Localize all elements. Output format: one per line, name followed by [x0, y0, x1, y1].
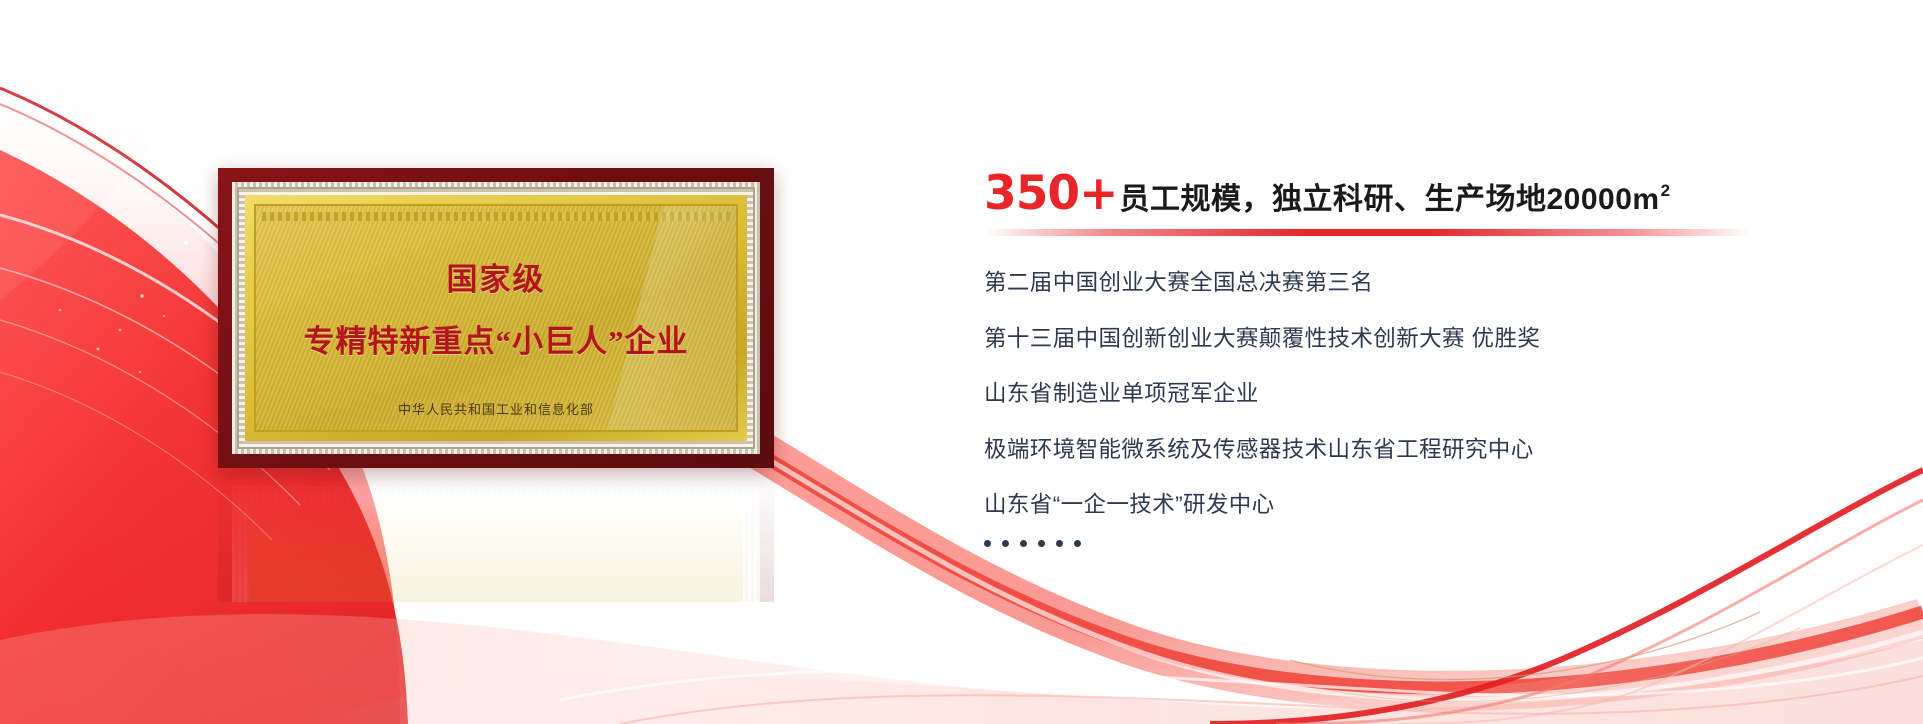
plaque-date: 2024年12月 — [256, 427, 736, 432]
list-item: 极端环境智能微系统及传感器技术山东省工程研究中心 — [984, 439, 1864, 462]
plaque-title-line-2: 专精特新重点“小巨人”企业 — [256, 316, 736, 361]
ellipsis-indicator — [984, 540, 1864, 547]
headline-divider — [984, 229, 1752, 236]
plaque-issuer: 中华人民共和国工业和信息化部 — [256, 399, 736, 418]
headline: 350+ 员工规模，独立科研、生产场地20000m 2 — [984, 170, 1864, 217]
content-column: 350+ 员工规模，独立科研、生产场地20000m 2 第二届中国创业大赛全国总… — [984, 170, 1864, 547]
list-item: 第十三届中国创新创业大赛颠覆性技术创新大赛 优胜奖 — [984, 328, 1864, 351]
ellipsis-dot — [1074, 540, 1081, 547]
ellipsis-dot — [1002, 540, 1009, 547]
list-item: 山东省“一企一技术”研发中心 — [984, 494, 1864, 517]
headline-number: 350+ — [984, 170, 1118, 217]
ellipsis-dot — [1056, 540, 1063, 547]
plaque-gold-plate: 国家级 专精特新重点“小巨人”企业 中华人民共和国工业和信息化部 2024年12… — [254, 204, 738, 432]
list-item: 山东省制造业单项冠军企业 — [984, 383, 1864, 406]
headline-text: 员工规模，独立科研、生产场地20000m — [1120, 185, 1660, 215]
company-achievements-banner: 国家级 专精特新重点“小巨人”企业 中华人民共和国工业和信息化部 2024年12… — [0, 0, 1923, 724]
plaque-reflection — [218, 472, 774, 602]
plaque-title-line-1: 国家级 — [256, 254, 736, 299]
ellipsis-dot — [984, 540, 991, 547]
plaque-outer-frame: 国家级 专精特新重点“小巨人”企业 中华人民共和国工业和信息化部 2024年12… — [218, 168, 774, 468]
award-plaque: 国家级 专精特新重点“小巨人”企业 中华人民共和国工业和信息化部 2024年12… — [218, 168, 774, 468]
list-item: 第二届中国创业大赛全国总决赛第三名 — [984, 272, 1864, 295]
headline-superscript: 2 — [1661, 181, 1670, 201]
ellipsis-dot — [1020, 540, 1027, 547]
plaque-silver-border: 国家级 专精特新重点“小巨人”企业 中华人民共和国工业和信息化部 2024年12… — [232, 182, 760, 454]
plaque-gold-border: 国家级 专精特新重点“小巨人”企业 中华人民共和国工业和信息化部 2024年12… — [245, 195, 747, 441]
award-list: 第二届中国创业大赛全国总决赛第三名 第十三届中国创新创业大赛颠覆性技术创新大赛 … — [984, 272, 1864, 517]
ellipsis-dot — [1038, 540, 1045, 547]
